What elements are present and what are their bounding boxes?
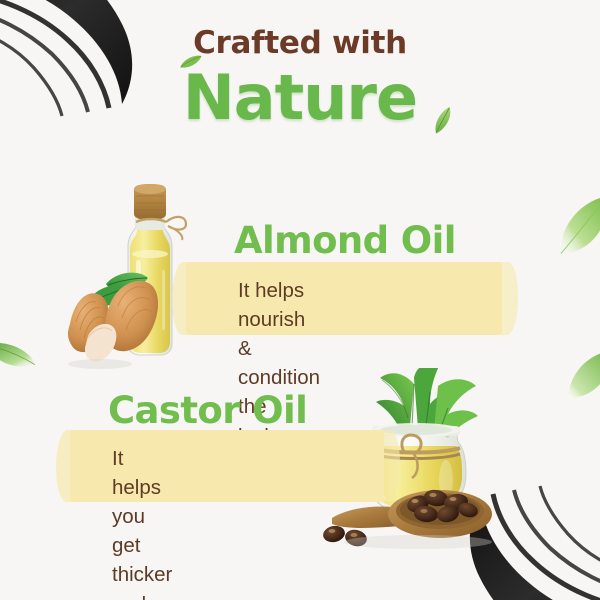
castor-oil-description: It helps you get thicker and fuller lash… [112, 444, 177, 600]
leaf-icon [566, 352, 600, 402]
promo-canvas: Crafted with Nature [0, 0, 600, 600]
leaf-icon [0, 338, 38, 376]
headline-line-2: Nature [0, 65, 600, 130]
castor-oil-title: Castor Oil [108, 392, 307, 429]
almond-oil-title: Almond Oil [234, 222, 456, 259]
leaf-icon [556, 196, 600, 258]
headline-line-1: Crafted with [0, 28, 600, 59]
almond-highlight-band [186, 262, 502, 335]
headline-block: Crafted with Nature [0, 28, 600, 130]
brush-stroke-icon [450, 468, 600, 600]
